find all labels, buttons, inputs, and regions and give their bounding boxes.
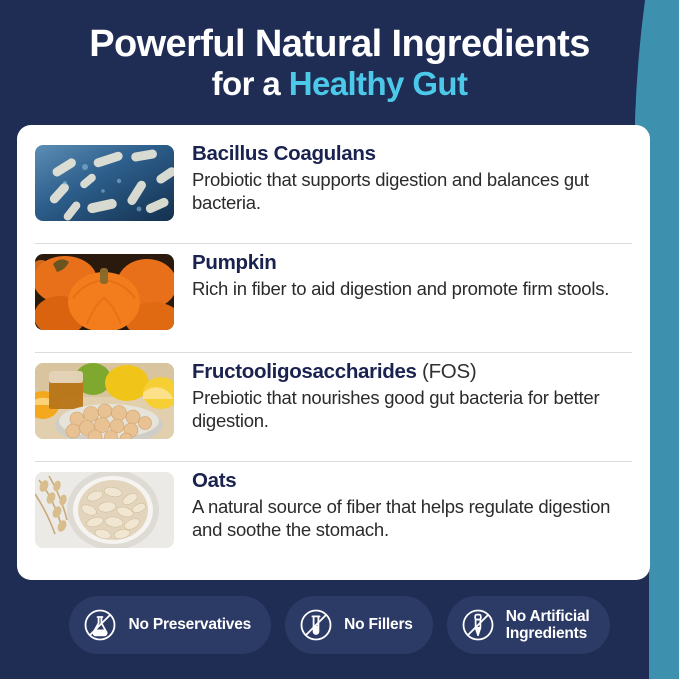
headline-line-2-prefix: for a <box>212 65 289 102</box>
ingredient-title-main: Pumpkin <box>192 251 276 274</box>
ingredient-title: Bacillus Coagulans <box>192 142 632 166</box>
ingredient-title-main: Oats <box>192 469 236 492</box>
ingredient-row: Oats A natural source of fiber that help… <box>35 461 632 570</box>
ingredient-title-suffix: (FOS) <box>417 360 477 383</box>
ingredient-text: Oats A natural source of fiber that help… <box>192 468 632 542</box>
ingredient-description: Prebiotic that nourishes good gut bacter… <box>192 386 632 433</box>
badge-no-preservatives[interactable]: No Preservatives <box>69 596 271 654</box>
ingredient-text: Bacillus Coagulans Probiotic that suppor… <box>192 141 632 215</box>
no-flask-icon <box>83 608 117 642</box>
ingredient-title: Oats <box>192 469 632 493</box>
ingredient-title-main: Fructooligosaccharides <box>192 360 417 383</box>
bacillus-coagulans-microscope-thumbnail <box>35 145 174 221</box>
no-test-tube-icon <box>299 608 333 642</box>
ingredient-description: Rich in fiber to aid digestion and promo… <box>192 277 609 301</box>
ingredient-description: A natural source of fiber that helps reg… <box>192 495 632 542</box>
badge-label: No Preservatives <box>128 616 251 633</box>
ingredient-row: Pumpkin Rich in fiber to aid digestion a… <box>35 243 632 352</box>
badge-no-artificial-ingredients[interactable]: No Artificial Ingredients <box>447 596 610 654</box>
oats-bowl-thumbnail <box>35 472 174 548</box>
badge-label: No Fillers <box>344 616 413 633</box>
chickpeas-citrus-thumbnail <box>35 363 174 439</box>
claims-badge-bar: No Preservatives No Fillers No Artificia… <box>0 596 679 654</box>
badge-no-fillers[interactable]: No Fillers <box>285 596 433 654</box>
page-headline: Powerful Natural Ingredients for a Healt… <box>0 0 679 104</box>
ingredient-title: Fructooligosaccharides (FOS) <box>192 360 632 384</box>
no-dropper-icon <box>461 608 495 642</box>
badge-label: No Artificial Ingredients <box>506 608 590 643</box>
ingredients-card: Bacillus Coagulans Probiotic that suppor… <box>17 125 650 580</box>
pumpkins-thumbnail <box>35 254 174 330</box>
ingredient-text: Pumpkin Rich in fiber to aid digestion a… <box>192 250 609 300</box>
headline-line-2: for a Healthy Gut <box>18 65 661 104</box>
ingredient-row: Fructooligosaccharides (FOS) Prebiotic t… <box>35 352 632 461</box>
ingredient-row: Bacillus Coagulans Probiotic that suppor… <box>35 135 632 243</box>
headline-line-1: Powerful Natural Ingredients <box>18 24 661 64</box>
headline-accent-text: Healthy Gut <box>289 65 468 102</box>
ingredient-title: Pumpkin <box>192 251 609 275</box>
ingredient-title-main: Bacillus Coagulans <box>192 142 376 165</box>
ingredient-description: Probiotic that supports digestion and ba… <box>192 168 632 215</box>
ingredient-text: Fructooligosaccharides (FOS) Prebiotic t… <box>192 359 632 433</box>
